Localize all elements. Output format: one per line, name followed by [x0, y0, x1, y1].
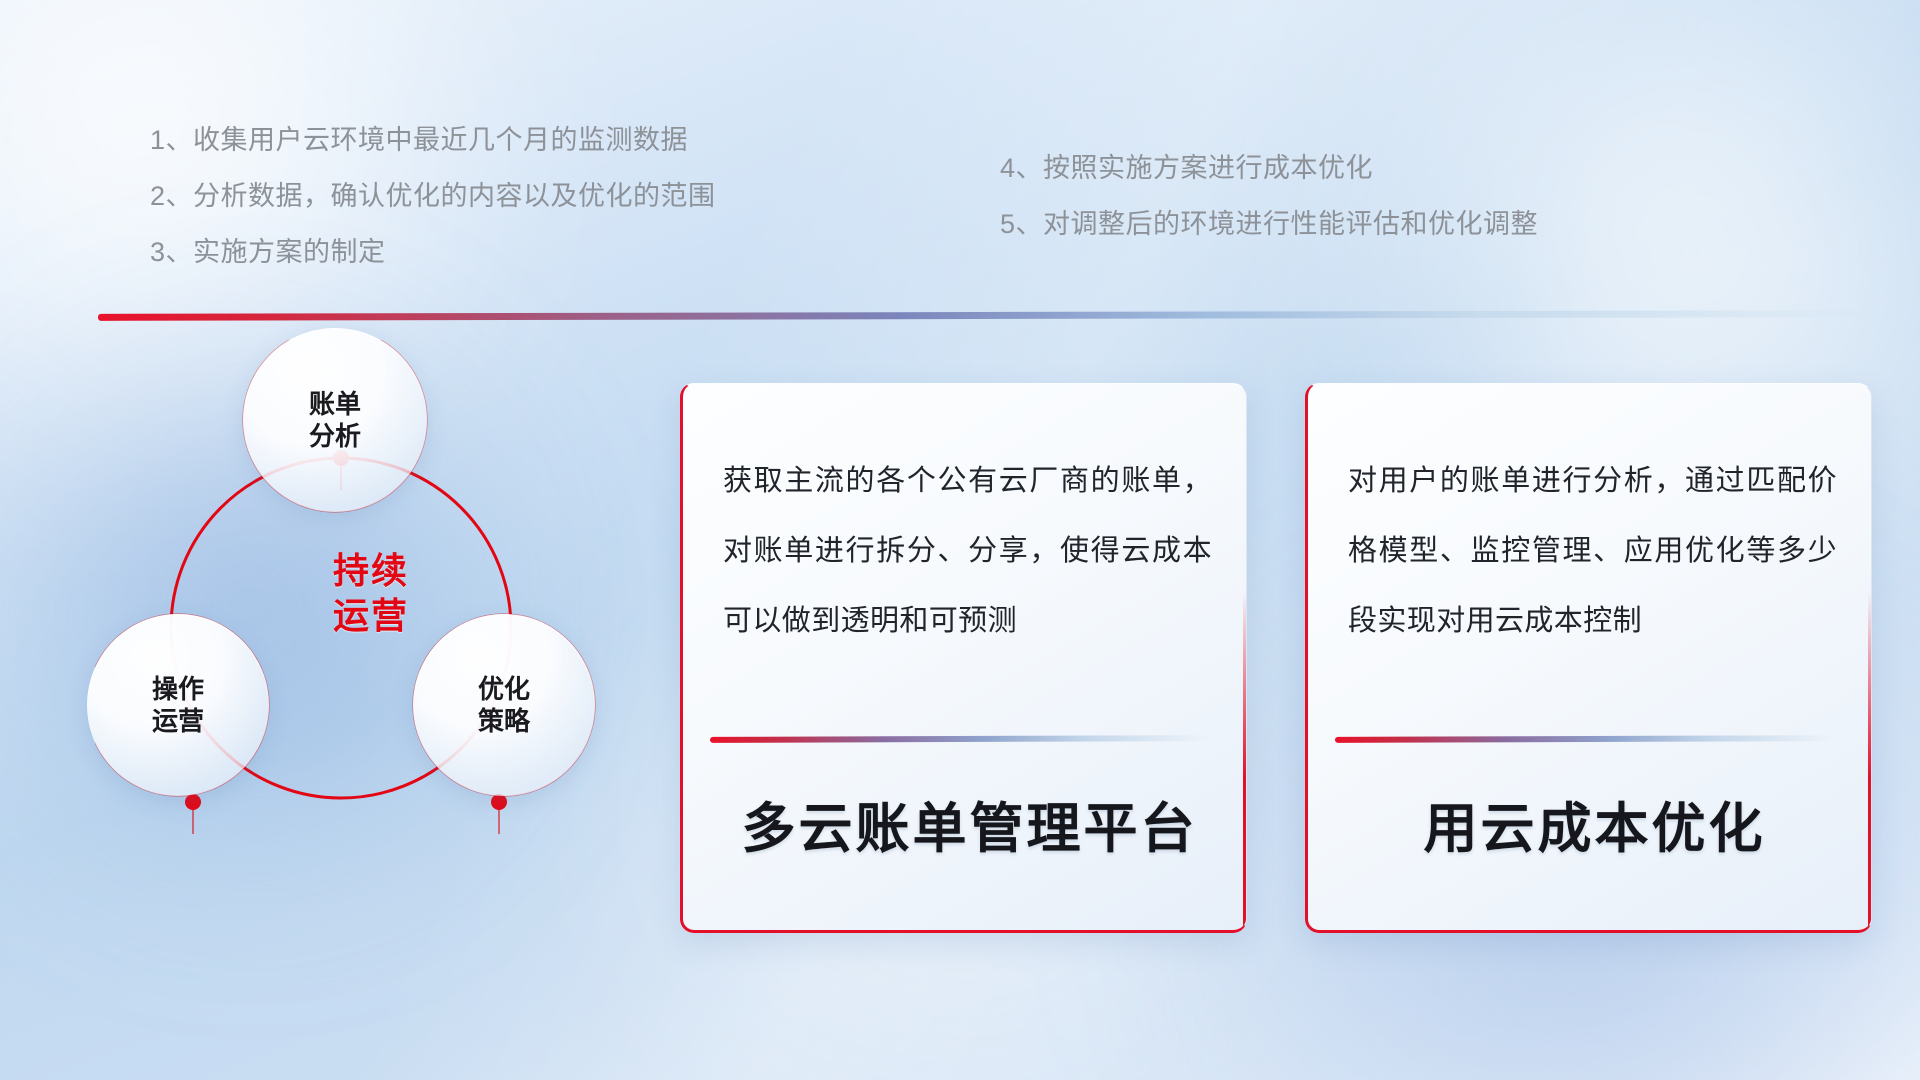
feature-card-multi-cloud-billing[interactable]: 获取主流的各个公有云厂商的账单，对账单进行拆分、分享，使得云成本可以做到透明和可… — [680, 383, 1247, 933]
node-label-line1: 操作 — [152, 673, 204, 705]
steps-column-left: 1、收集用户云环境中最近几个月的监测数据 2、分析数据，确认优化的内容以及优化的… — [150, 112, 716, 280]
node-label-line2: 策略 — [478, 705, 530, 737]
card-title: 用云成本优化 — [1338, 784, 1851, 863]
card-rule-line — [1335, 735, 1835, 743]
card-body-text: 对用户的账单进行分析，通过匹配价格模型、监控管理、应用优化等多少段实现对用云成本… — [1348, 446, 1837, 656]
card-title: 多云账单管理平台 — [713, 784, 1226, 863]
node-label-line2: 运营 — [152, 705, 204, 737]
card-right-accent — [1868, 591, 1871, 930]
diagram-node-bill-analysis[interactable]: 账单 分析 — [243, 328, 427, 512]
feature-card-cloud-cost-optimization[interactable]: 对用户的账单进行分析，通过匹配价格模型、监控管理、应用优化等多少段实现对用云成本… — [1305, 383, 1872, 933]
step-item-5: 5、对调整后的环境进行性能评估和优化调整 — [1000, 196, 1538, 252]
step-item-4: 4、按照实施方案进行成本优化 — [1000, 140, 1538, 196]
node-label-line1: 优化 — [478, 673, 530, 705]
steps-column-right: 4、按照实施方案进行成本优化 5、对调整后的环境进行性能评估和优化调整 — [1000, 140, 1538, 252]
connector-dot-left — [185, 794, 201, 810]
card-rule-line — [710, 735, 1210, 743]
steps-list-region: 1、收集用户云环境中最近几个月的监测数据 2、分析数据，确认优化的内容以及优化的… — [0, 0, 1920, 300]
step-item-3: 3、实施方案的制定 — [150, 224, 716, 280]
step-item-2: 2、分析数据，确认优化的内容以及优化的范围 — [150, 168, 716, 224]
center-label-line1: 持续 — [281, 548, 461, 593]
card-right-accent — [1243, 591, 1246, 930]
continuous-operation-diagram: 账单 分析 操作 运营 优化 策略 持续 运营 — [95, 340, 655, 960]
node-label-line2: 分析 — [309, 420, 361, 452]
step-item-1: 1、收集用户云环境中最近几个月的监测数据 — [150, 112, 716, 168]
diagram-node-operation[interactable]: 操作 运营 — [87, 614, 269, 796]
center-label-line2: 运营 — [281, 593, 461, 638]
node-label-line1: 账单 — [309, 388, 361, 420]
diagram-center-label: 持续 运营 — [281, 548, 461, 638]
diagram-node-optimization-strategy[interactable]: 优化 策略 — [413, 614, 595, 796]
card-body-text: 获取主流的各个公有云厂商的账单，对账单进行拆分、分享，使得云成本可以做到透明和可… — [723, 446, 1212, 656]
